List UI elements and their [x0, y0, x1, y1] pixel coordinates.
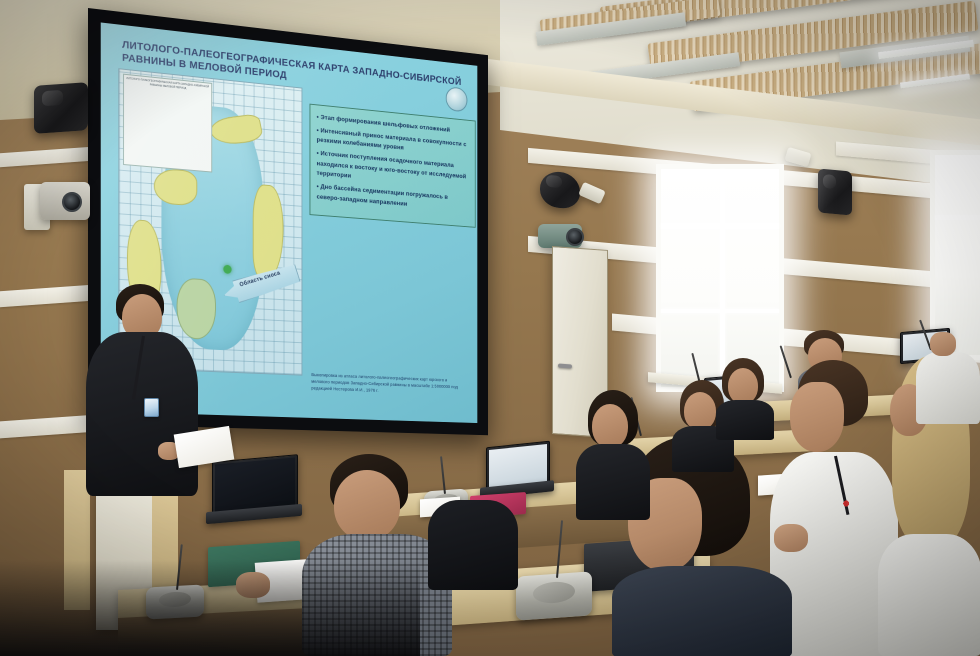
- presenter-body: [86, 332, 198, 496]
- foreground-shadow: [0, 560, 420, 656]
- id-badge-icon: [144, 398, 159, 417]
- audience-head: [334, 470, 400, 540]
- audience-body: [428, 500, 518, 590]
- window-mullion: [935, 215, 980, 220]
- speaker-icon: [34, 82, 88, 134]
- lecture-hall-photo: ЛИТОЛОГО-ПАЛЕОГЕОГРАФИЧЕСКАЯ КАРТА ЗАПАД…: [0, 0, 980, 656]
- microphone-icon[interactable]: [516, 571, 592, 620]
- window-mullion: [661, 223, 779, 229]
- speaker-icon: [818, 169, 852, 216]
- map-location-marker: [223, 265, 231, 274]
- audience-member: [428, 470, 518, 590]
- audience-body: [576, 444, 650, 520]
- window-glass: [935, 155, 980, 355]
- audience-body: [612, 566, 792, 656]
- shirt-logo: [842, 500, 856, 507]
- audience-body: [916, 352, 980, 424]
- audience-head: [592, 404, 628, 448]
- audience-hand: [930, 332, 956, 356]
- camera-lens-icon: [566, 228, 584, 246]
- window-mullion: [661, 309, 779, 313]
- audience-body: [716, 400, 774, 440]
- slide-bullet-panel: • Этап формирования шельфовых отложений …: [310, 104, 476, 229]
- audience-head: [790, 382, 844, 452]
- audience-head: [684, 392, 716, 430]
- slide-source-note: Выкопировка из атласа литолого-палеогеог…: [311, 371, 462, 397]
- audience-member: [576, 390, 650, 520]
- map-legend: ЛИТОЛОГО-ПАЛЕОГЕОГРАФИЧЕСКАЯ КАРТА ЗАПАД…: [123, 74, 212, 173]
- audience-member: [916, 328, 980, 424]
- camera-lens-icon: [62, 192, 82, 212]
- audience-head: [728, 368, 758, 404]
- window-mullion: [720, 169, 725, 387]
- audience-member: [716, 358, 774, 438]
- audience-body: [878, 534, 980, 656]
